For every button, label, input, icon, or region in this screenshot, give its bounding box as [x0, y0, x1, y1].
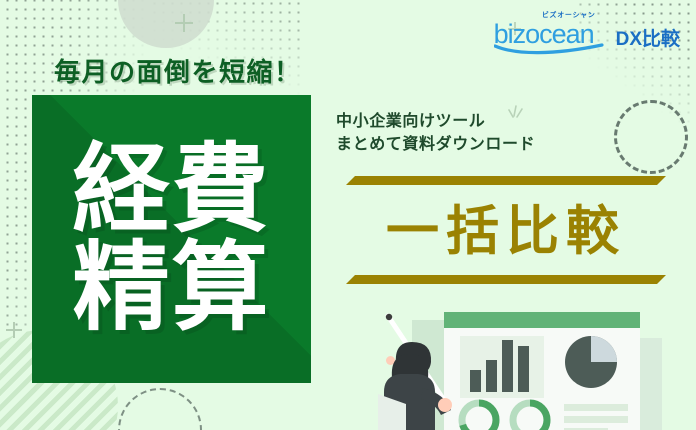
banner: ビズオーシャン bizocean DX比較 毎月の面倒を短縮！ 経費 精算 中小… — [0, 0, 696, 430]
subtitle-line-2: まとめて資料ダウンロード — [336, 133, 535, 156]
grey-circle-shape — [118, 0, 214, 48]
plus-mark-icon — [175, 14, 193, 32]
compare-label: 一括比較 — [346, 185, 666, 275]
pointer-tip — [386, 314, 392, 320]
compare-bottom-rule — [346, 275, 666, 284]
hero-green-panel: 経費 精算 — [32, 95, 311, 383]
bizocean-logo[interactable]: ビズオーシャン bizocean — [494, 12, 604, 55]
presenter-illustration — [378, 298, 696, 430]
presenter-hand — [438, 398, 452, 412]
sparkle-icon — [505, 104, 527, 126]
chart-board-header — [444, 312, 640, 328]
compare-callout: 一括比較 — [346, 176, 666, 284]
compare-top-rule — [346, 176, 666, 185]
plus-mark-icon — [6, 322, 22, 338]
brand-logo-area[interactable]: ビズオーシャン bizocean DX比較 — [494, 12, 680, 55]
kicker-headline: 毎月の面倒を短縮！ — [54, 52, 302, 89]
hero-title: 経費 精算 — [32, 95, 311, 383]
dx-comparison-badge[interactable]: DX比較 — [616, 24, 680, 55]
dashed-circle-bottom — [118, 388, 202, 430]
hero-title-line-1: 経費 — [73, 141, 271, 239]
bizocean-logo-kana: ビズオーシャン — [542, 10, 596, 20]
hero-title-line-2: 精算 — [73, 239, 271, 337]
pie-chart — [565, 336, 617, 388]
dashed-circle-right — [614, 100, 688, 174]
